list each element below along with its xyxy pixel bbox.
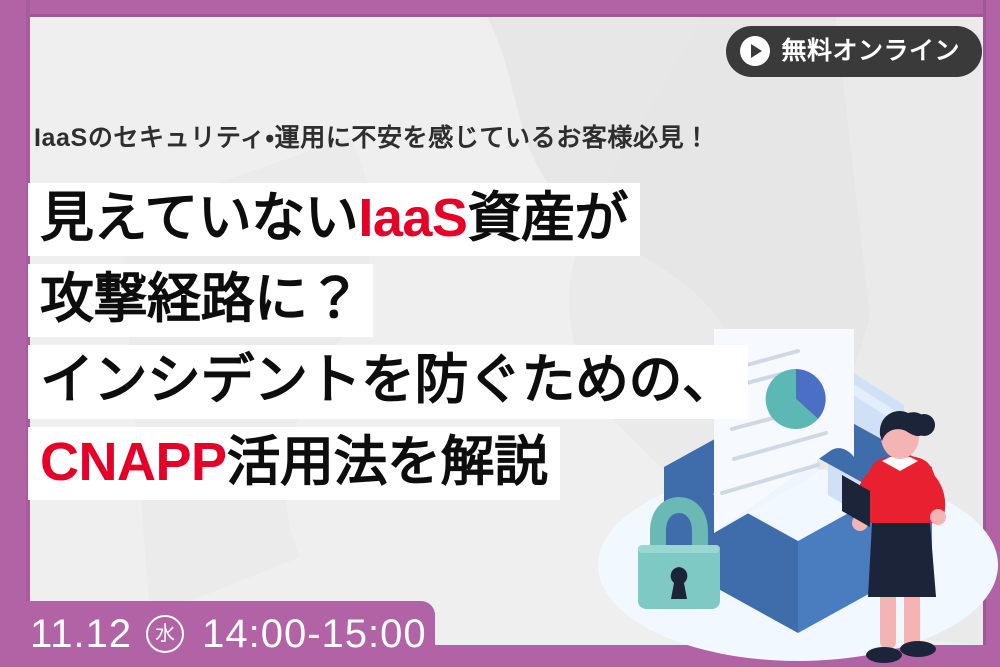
headline-line-2-pre: 攻撃経路に？ xyxy=(40,269,361,329)
webinar-banner: 無料オンライン IaaSのセキュリティ・運用に不安を感じているお客様必見！ 見え… xyxy=(0,0,1000,667)
document-pie-chart xyxy=(766,369,826,429)
frame-top xyxy=(0,0,1000,14)
event-time: 14:00-15:00 xyxy=(202,614,427,654)
frame-left xyxy=(0,0,26,667)
headline-line-4: CNAPP活用法を解説 xyxy=(28,427,560,500)
skirt xyxy=(868,523,936,597)
headline-line-1-post: 資産が xyxy=(467,188,628,248)
headline-line-1-accent: IaaS xyxy=(358,188,467,248)
headline-line-2: 攻撃経路に？ xyxy=(28,264,373,337)
frame-top-line xyxy=(0,14,1000,17)
hair-bun xyxy=(913,414,935,436)
day-of-week-badge: 水 xyxy=(146,615,184,653)
event-date: 11.12 xyxy=(30,614,132,654)
headline-line-1: 見えていないIaaS資産が xyxy=(28,183,640,256)
headline-line-3-pre: インシデントを防ぐための、 xyxy=(40,350,736,410)
free-online-badge[interactable]: 無料オンライン xyxy=(726,26,982,77)
headline-block: 見えていないIaaS資産が 攻撃経路に？ インシデントを防ぐための、 CNAPP… xyxy=(28,183,748,500)
play-circle-icon xyxy=(740,36,770,66)
headline-line-1-pre: 見えていない xyxy=(40,188,358,248)
date-time-bar: 11.12 水 14:00-15:00 xyxy=(0,601,435,667)
headline-line-3: インシデントを防ぐための、 xyxy=(28,345,748,418)
subtitle-text: IaaSのセキュリティ・運用に不安を感じているお客様必見！ xyxy=(34,123,710,153)
badge-label: 無料オンライン xyxy=(781,39,960,64)
headline-line-4-post: 活用法を解説 xyxy=(227,432,548,492)
headline-line-4-accent: CNAPP xyxy=(40,432,227,492)
